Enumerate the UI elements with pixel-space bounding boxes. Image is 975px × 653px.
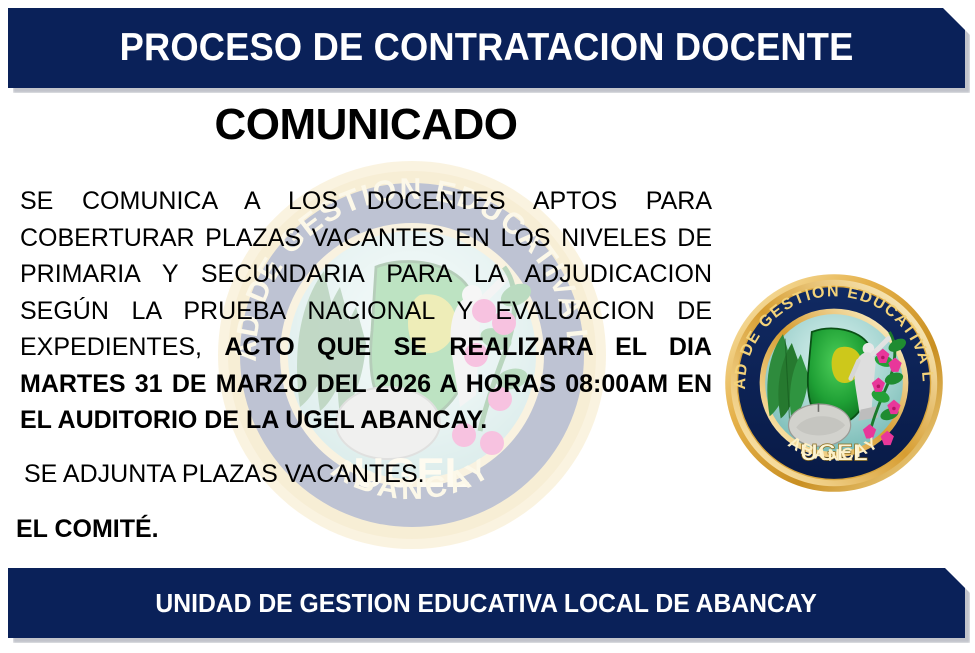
attachment-note: SE ADJUNTA PLAZAS VACANTES. bbox=[24, 460, 425, 489]
signature-line: EL COMITÉ. bbox=[16, 515, 159, 544]
header-title: PROCESO DE CONTRATACION DOCENTE bbox=[120, 26, 854, 70]
footer-banner: UNIDAD DE GESTION EDUCATIVA LOCAL DE ABA… bbox=[8, 568, 965, 638]
footer-title: UNIDAD DE GESTION EDUCATIVA LOCAL DE ABA… bbox=[156, 588, 817, 619]
announcement-poster: UNIDAD DE GESTION EDUCATIVA LOCAL UGEL A… bbox=[0, 0, 975, 653]
announcement-paragraph: SE COMUNICA A LOS DOCENTES APTOS PARA CO… bbox=[20, 183, 712, 439]
ugel-abancay-seal-icon: UNIDAD DE GESTION EDUCATIVA LOCAL UGEL A… bbox=[723, 272, 945, 494]
page-title: COMUNICADO bbox=[20, 100, 712, 150]
header-banner: PROCESO DE CONTRATACION DOCENTE bbox=[8, 8, 965, 88]
announcement-body: SE COMUNICA A LOS DOCENTES APTOS PARA CO… bbox=[20, 183, 712, 439]
